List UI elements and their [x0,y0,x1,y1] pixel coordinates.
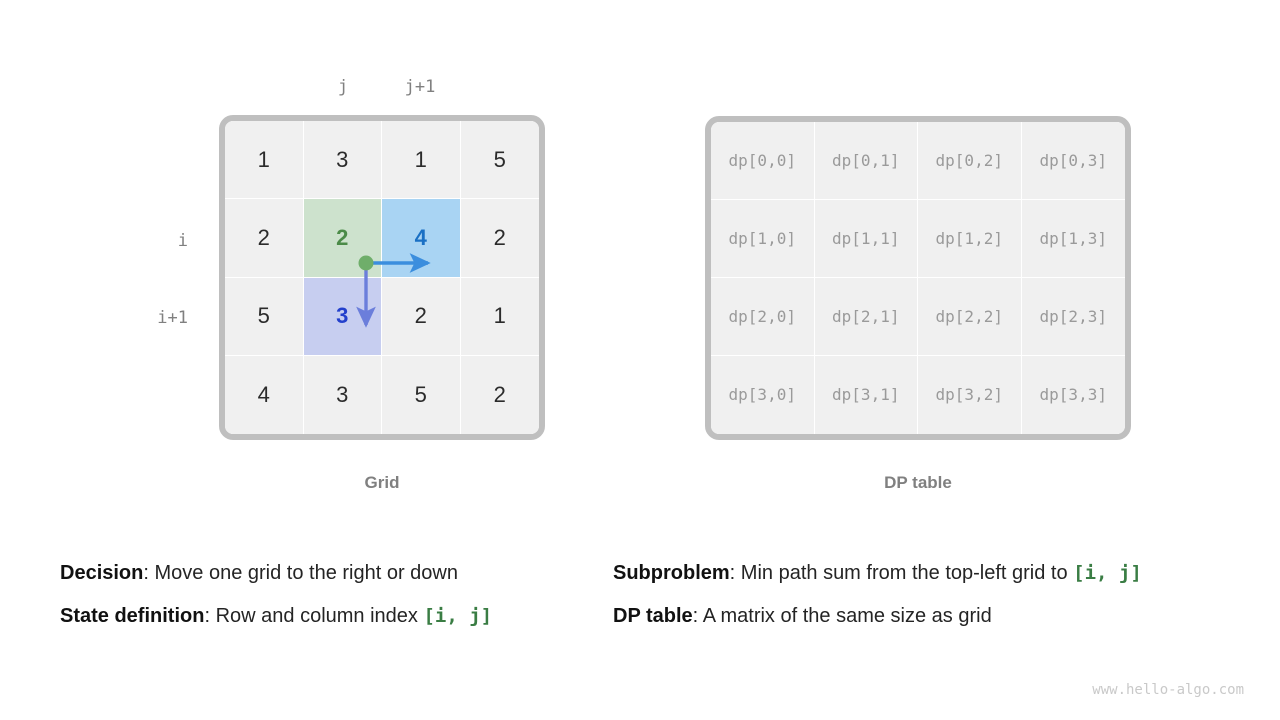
grid-cell-value: 1 [415,149,427,171]
dp-cell-0-2[interactable]: dp[0,2] [918,122,1022,200]
grid-cell-value: 1 [494,305,506,327]
grid-row-label-i: i [120,233,188,250]
note-subproblem-text: Min path sum from the top-left grid to [741,562,1073,584]
grid-cell-0-0[interactable]: 1 [225,121,304,199]
note-subproblem-sep: : [730,562,741,584]
grid-column-label-j: j [313,79,373,96]
grid-cell-3-0[interactable]: 4 [225,356,304,434]
grid-cell-0-1[interactable]: 3 [304,121,383,199]
dp-cell-3-2[interactable]: dp[3,2] [918,356,1022,434]
grid-cell-value: 3 [336,149,348,171]
note-subproblem: Subproblem: Min path sum from the top-le… [613,563,1142,583]
dp-cell-1-3[interactable]: dp[1,3] [1022,200,1126,278]
dp-cell-value: dp[3,1] [832,387,899,403]
dp-cell-value: dp[0,0] [729,153,796,169]
grid-cell-3-2[interactable]: 5 [382,356,461,434]
grid-cell-value: 3 [336,305,348,327]
note-state-definition: State definition: Row and column index [… [60,606,492,626]
dp-cell-1-0[interactable]: dp[1,0] [711,200,815,278]
dp-cell-value: dp[0,2] [936,153,1003,169]
dp-cell-value: dp[3,3] [1040,387,1107,403]
dp-cell-2-0[interactable]: dp[2,0] [711,278,815,356]
note-state-sep: : [204,605,215,627]
grid-table: 1 3 1 5 2 2 4 2 5 3 2 1 4 3 5 2 [219,115,545,440]
grid-cell-2-0[interactable]: 5 [225,278,304,356]
dp-cell-3-3[interactable]: dp[3,3] [1022,356,1126,434]
grid-cell-value: 2 [494,227,506,249]
note-subproblem-code: [i, j] [1073,562,1142,584]
grid-cell-1-0[interactable]: 2 [225,199,304,277]
grid-cell-value: 5 [494,149,506,171]
dp-cell-2-2[interactable]: dp[2,2] [918,278,1022,356]
dp-cell-2-3[interactable]: dp[2,3] [1022,278,1126,356]
site-watermark: www.hello-algo.com [1092,682,1244,698]
note-decision-sep: : [143,562,154,584]
dp-cell-3-1[interactable]: dp[3,1] [815,356,919,434]
grid-cell-0-3[interactable]: 5 [461,121,540,199]
dp-cell-value: dp[2,3] [1040,309,1107,325]
grid-cell-1-1-current[interactable]: 2 [304,199,383,277]
grid-cell-value: 3 [336,384,348,406]
dp-cell-value: dp[2,0] [729,309,796,325]
grid-cell-2-1-down[interactable]: 3 [304,278,383,356]
grid-caption: Grid [219,473,545,493]
grid-cell-value: 1 [258,149,270,171]
note-decision: Decision: Move one grid to the right or … [60,563,458,583]
dp-table-caption: DP table [705,473,1131,493]
grid-cell-3-1[interactable]: 3 [304,356,383,434]
grid-cell-2-2[interactable]: 2 [382,278,461,356]
dp-cell-2-1[interactable]: dp[2,1] [815,278,919,356]
dp-cell-1-1[interactable]: dp[1,1] [815,200,919,278]
note-dptable-label: DP table [613,605,693,627]
dp-cell-value: dp[2,1] [832,309,899,325]
dp-cell-value: dp[0,1] [832,153,899,169]
grid-cell-value: 2 [415,305,427,327]
dp-table: dp[0,0] dp[0,1] dp[0,2] dp[0,3] dp[1,0] … [705,116,1131,440]
grid-cell-0-2[interactable]: 1 [382,121,461,199]
dp-cell-0-3[interactable]: dp[0,3] [1022,122,1126,200]
grid-cell-value: 4 [258,384,270,406]
dp-cell-value: dp[1,0] [729,231,796,247]
note-dptable-sep: : [693,605,703,627]
grid-cell-value: 2 [494,384,506,406]
grid-cell-value: 2 [336,227,348,249]
dp-cell-0-0[interactable]: dp[0,0] [711,122,815,200]
note-state-label: State definition [60,605,204,627]
grid-cell-value: 4 [415,227,427,249]
dp-cell-value: dp[0,3] [1040,153,1107,169]
dp-cell-value: dp[1,2] [936,231,1003,247]
dp-cell-3-0[interactable]: dp[3,0] [711,356,815,434]
dp-cell-0-1[interactable]: dp[0,1] [815,122,919,200]
note-dp-table: DP table: A matrix of the same size as g… [613,606,992,626]
note-state-text: Row and column index [216,605,424,627]
grid-row-label-i-plus-1: i+1 [120,310,188,327]
dp-cell-1-2[interactable]: dp[1,2] [918,200,1022,278]
grid-cell-1-2-right[interactable]: 4 [382,199,461,277]
diagram-canvas: j j+1 i i+1 1 3 1 5 2 2 4 2 5 3 2 1 4 3 … [0,0,1280,720]
grid-column-label-j-plus-1: j+1 [390,79,450,96]
dp-cell-value: dp[2,2] [936,309,1003,325]
dp-cell-value: dp[3,0] [729,387,796,403]
grid-cell-value: 5 [415,384,427,406]
dp-cell-value: dp[1,1] [832,231,899,247]
grid-cell-value: 2 [258,227,270,249]
note-subproblem-label: Subproblem [613,562,730,584]
dp-cell-value: dp[3,2] [936,387,1003,403]
grid-cell-2-3[interactable]: 1 [461,278,540,356]
note-decision-text: Move one grid to the right or down [154,562,458,584]
note-dptable-text: A matrix of the same size as grid [703,605,992,627]
grid-cell-1-3[interactable]: 2 [461,199,540,277]
note-state-code: [i, j] [423,605,492,627]
dp-cell-value: dp[1,3] [1040,231,1107,247]
note-decision-label: Decision [60,562,143,584]
grid-cell-value: 5 [258,305,270,327]
grid-cell-3-3[interactable]: 2 [461,356,540,434]
